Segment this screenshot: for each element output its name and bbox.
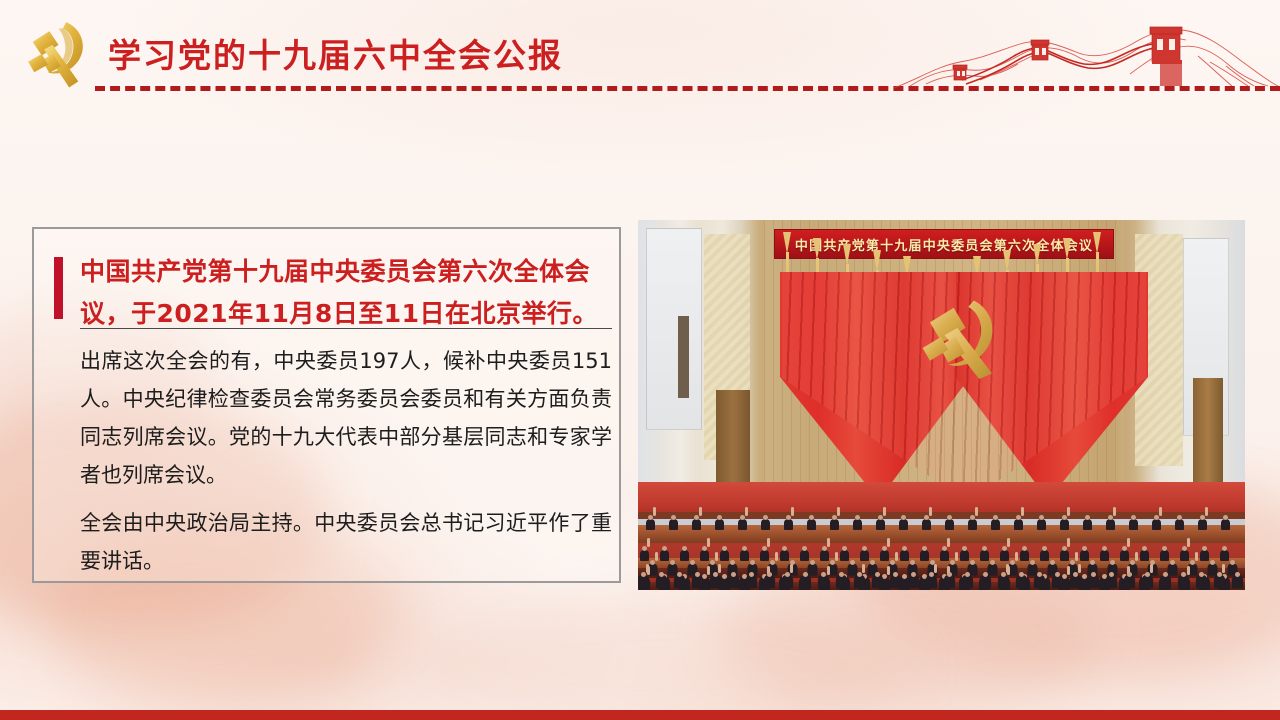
delegate-head	[659, 572, 664, 577]
delegate-head	[671, 515, 676, 520]
delegate-figure	[922, 519, 931, 530]
delegate-figure	[1083, 519, 1092, 530]
delegate-head	[1182, 546, 1187, 551]
delegate-head	[670, 560, 675, 565]
delegate-head	[1230, 560, 1235, 565]
delegate-head	[982, 546, 987, 551]
raised-hand	[835, 552, 838, 561]
delegate-head	[782, 546, 787, 551]
delegate-head	[1055, 572, 1060, 577]
delegate-head	[1102, 546, 1107, 551]
delegate-figure	[980, 550, 989, 561]
delegate-figure	[991, 519, 1000, 530]
raised-hand	[655, 552, 658, 561]
delegate-head	[1037, 572, 1042, 577]
raised-hand	[1150, 564, 1153, 573]
delegate-head	[702, 546, 707, 551]
delegate-figure	[669, 519, 678, 530]
delegate-figure	[920, 550, 929, 561]
hall-wood-column-left	[716, 390, 750, 488]
delegate-figure	[876, 519, 885, 530]
card-paragraph: 全会由中央政治局主持。中央委员会总书记习近平作了重要讲话。	[80, 504, 612, 580]
raised-hand	[1067, 507, 1070, 516]
delegate-head	[762, 546, 767, 551]
delegate-figure	[692, 519, 701, 530]
raised-hand	[767, 538, 770, 547]
delegate-head	[662, 546, 667, 551]
hall-dark-pillar	[678, 316, 689, 398]
delegate-figure	[1200, 550, 1209, 561]
delegate-head	[803, 572, 808, 577]
delegate-figure	[840, 550, 849, 561]
delegate-head	[1062, 546, 1067, 551]
raised-hand	[715, 552, 718, 561]
delegate-head	[1142, 546, 1147, 551]
delegate-head	[690, 560, 695, 565]
delegate-figure	[715, 519, 724, 530]
spear-finial-icon	[1093, 232, 1101, 254]
delegate-head	[890, 560, 895, 565]
delegate-head	[1070, 560, 1075, 565]
raised-hand	[707, 538, 710, 547]
delegate-head	[983, 572, 988, 577]
delegate-head	[1085, 515, 1090, 520]
delegate-head	[965, 572, 970, 577]
delegate-head	[1016, 515, 1021, 520]
delegate-head	[902, 574, 907, 579]
delegate-head	[1001, 572, 1006, 577]
raised-hand	[1007, 538, 1010, 547]
delegate-figure	[880, 550, 889, 561]
delegate-head	[1042, 546, 1047, 551]
delegate-figure	[1221, 519, 1230, 530]
delegate-head	[878, 515, 883, 520]
delegate-head	[1039, 515, 1044, 520]
delegate-figure	[1020, 550, 1029, 561]
delegate-head	[1030, 560, 1035, 565]
raised-hand	[646, 564, 649, 573]
raised-hand	[827, 538, 830, 547]
delegate-figure	[940, 550, 949, 561]
delegate-head	[911, 572, 916, 577]
delegate-head	[1130, 560, 1135, 565]
delegate-figure	[720, 550, 729, 561]
delegate-head	[855, 515, 860, 520]
hall-wood-column-right	[1193, 378, 1223, 488]
delegate-head	[641, 572, 646, 577]
spear-finial-icon	[873, 250, 881, 272]
party-hammer-sickle-emblem-icon	[18, 16, 96, 92]
delegate-head	[1010, 560, 1015, 565]
delegate-head	[1154, 515, 1159, 520]
delegate-figure	[1167, 563, 1177, 575]
delegate-head	[1062, 515, 1067, 520]
spear-finial-icon	[1003, 250, 1011, 272]
delegate-head	[722, 546, 727, 551]
delegate-head	[950, 560, 955, 565]
delegate-figure	[1198, 519, 1207, 530]
delegate-head	[947, 572, 952, 577]
delegate-figure	[646, 519, 655, 530]
delegate-head	[730, 560, 735, 565]
delegate-head	[1210, 560, 1215, 565]
delegate-head	[1170, 560, 1175, 565]
delegate-head	[810, 560, 815, 565]
delegate-figure	[1060, 519, 1069, 530]
delegate-figure	[760, 550, 769, 561]
delegate-head	[770, 560, 775, 565]
raised-hand	[975, 507, 978, 516]
delegate-head	[1108, 515, 1113, 520]
delegate-head	[740, 515, 745, 520]
delegate-head	[1190, 560, 1195, 565]
delegate-head	[1002, 546, 1007, 551]
great-wall-illustration-icon	[880, 0, 1280, 100]
raised-hand	[1067, 566, 1070, 575]
delegate-head	[830, 560, 835, 565]
delegate-head	[682, 546, 687, 551]
delegate-figure	[660, 550, 669, 561]
delegate-figure	[987, 563, 997, 575]
raised-hand	[1015, 552, 1018, 561]
delegate-figure	[784, 519, 793, 530]
delegate-head	[1127, 572, 1132, 577]
delegate-head	[1235, 572, 1240, 577]
delegate-head	[862, 546, 867, 551]
delegate-figure	[1120, 550, 1129, 561]
delegate-figure	[1060, 550, 1069, 561]
delegate-figure	[1037, 519, 1046, 530]
delegate-figure	[900, 550, 909, 561]
delegate-head	[722, 574, 727, 579]
delegate-figure	[700, 550, 709, 561]
delegate-head	[942, 546, 947, 551]
delegate-head	[947, 515, 952, 520]
hall-side-panel-left	[646, 228, 702, 430]
raised-hand	[1222, 564, 1225, 573]
delegate-head	[731, 572, 736, 577]
raised-hand	[1113, 507, 1116, 516]
delegate-head	[1073, 572, 1078, 577]
raised-hand	[718, 564, 721, 573]
raised-hand	[1135, 552, 1138, 561]
delegate-head	[850, 560, 855, 565]
raised-hand	[887, 538, 890, 547]
delegate-head	[910, 560, 915, 565]
raised-hand	[1075, 552, 1078, 561]
delegate-figure	[1160, 550, 1169, 561]
headline-accent-bar	[54, 257, 63, 319]
raised-hand	[1187, 566, 1190, 575]
delegate-head	[1223, 515, 1228, 520]
delegate-figure	[1129, 519, 1138, 530]
delegate-head	[822, 546, 827, 551]
delegate-head	[1217, 572, 1222, 577]
raised-hand	[1195, 552, 1198, 561]
delegate-figure	[738, 519, 747, 530]
raised-hand	[862, 564, 865, 573]
delegate-head	[717, 515, 722, 520]
delegate-head	[902, 546, 907, 551]
delegate-head	[642, 546, 647, 551]
delegate-head	[809, 515, 814, 520]
delegate-head	[713, 572, 718, 577]
delegate-head	[1022, 546, 1027, 551]
delegate-head	[1177, 515, 1182, 520]
raised-hand	[1006, 564, 1009, 573]
delegate-figure	[1040, 550, 1049, 561]
delegate-head	[1109, 572, 1114, 577]
delegate-head	[1145, 572, 1150, 577]
raised-hand	[745, 507, 748, 516]
card-paragraph: 出席这次全会的有，中央委员197人，候补中央委员151人。中央纪律检查委员会常务…	[80, 342, 612, 494]
delegate-figure	[761, 519, 770, 530]
delegate-head	[1110, 560, 1115, 565]
delegate-head	[648, 515, 653, 520]
delegate-head	[1050, 560, 1055, 565]
delegate-head	[1122, 546, 1127, 551]
background-wash	[420, 600, 920, 720]
delegate-head	[742, 546, 747, 551]
delegate-head	[1163, 572, 1168, 577]
slide-root: 学习党的十九届六中全会公报	[0, 0, 1280, 720]
delegate-figure	[680, 550, 689, 561]
card-divider	[80, 328, 612, 329]
card-headline: 中国共产党第十九届中央委员会第六次全体会议，于2021年11月8日至11日在北京…	[80, 251, 600, 335]
delegate-head	[882, 546, 887, 551]
delegate-figure	[1000, 550, 1009, 561]
raised-hand	[653, 507, 656, 516]
raised-hand	[1205, 507, 1208, 516]
delegate-figure	[1175, 519, 1184, 530]
spear-finial-icon	[1063, 238, 1071, 260]
delegate-head	[893, 572, 898, 577]
delegate-head	[1019, 572, 1024, 577]
delegate-figure	[860, 550, 869, 561]
slide-header: 学习党的十九届六中全会公报	[0, 0, 1280, 104]
footer-accent-bar	[0, 710, 1280, 720]
delegate-head	[763, 515, 768, 520]
raised-hand	[837, 507, 840, 516]
delegate-figure	[780, 550, 789, 561]
delegate-head	[1091, 572, 1096, 577]
delegate-figure	[807, 519, 816, 530]
delegate-figure	[899, 519, 908, 530]
spear-finial-icon	[1033, 244, 1041, 266]
delegate-head	[1181, 572, 1186, 577]
delegate-head	[1162, 546, 1167, 551]
raised-hand	[1187, 538, 1190, 547]
delegate-head	[875, 572, 880, 577]
delegate-head	[1222, 546, 1227, 551]
delegate-figure	[1140, 550, 1149, 561]
raised-hand	[883, 507, 886, 516]
delegate-figure	[830, 519, 839, 530]
meeting-banner-text: 中国共产党第十九届中央委员会第六次全体会议	[795, 235, 1093, 254]
delegate-figure	[1220, 550, 1229, 561]
delegate-figure	[968, 519, 977, 530]
delegate-figure	[640, 550, 649, 561]
raised-hand	[895, 552, 898, 561]
delegate-head	[695, 572, 700, 577]
delegate-figure	[945, 519, 954, 530]
delegate-head	[749, 572, 754, 577]
delegate-head	[650, 560, 655, 565]
delegate-head	[922, 546, 927, 551]
raised-hand	[647, 538, 650, 547]
raised-hand	[699, 507, 702, 516]
delegate-head	[962, 546, 967, 551]
great-hall-plenary-session-photo: 中国共产党第十九届中央委员会第六次全体会议	[638, 220, 1245, 590]
delegate-head	[1199, 572, 1204, 577]
delegate-head	[842, 546, 847, 551]
raised-hand	[1159, 507, 1162, 516]
delegate-head	[901, 515, 906, 520]
delegate-figure	[800, 550, 809, 561]
delegate-head	[1082, 546, 1087, 551]
delegate-head	[832, 515, 837, 520]
delegate-head	[1200, 515, 1205, 520]
spear-finial-icon	[783, 232, 791, 254]
delegate-figure	[807, 563, 817, 575]
raised-hand	[790, 564, 793, 573]
delegate-head	[857, 572, 862, 577]
raised-hand	[775, 552, 778, 561]
gold-hammer-sickle-icon	[915, 295, 1007, 379]
delegate-head	[767, 572, 772, 577]
delegate-head	[970, 560, 975, 565]
delegate-figure	[1152, 519, 1161, 530]
delegate-head	[970, 515, 975, 520]
delegate-figure	[1014, 519, 1023, 530]
raised-hand	[947, 538, 950, 547]
delegate-figure	[740, 550, 749, 561]
raised-hand	[791, 507, 794, 516]
delegate-head	[924, 515, 929, 520]
delegate-head	[786, 515, 791, 520]
delegate-head	[993, 515, 998, 520]
delegate-head	[694, 515, 699, 520]
delegate-figure	[820, 550, 829, 561]
delegate-figure	[1080, 550, 1089, 561]
delegate-head	[839, 572, 844, 577]
spear-finial-icon	[843, 244, 851, 266]
spear-finial-icon	[813, 238, 821, 260]
delegate-head	[929, 572, 934, 577]
raised-hand	[707, 566, 710, 575]
raised-hand	[955, 552, 958, 561]
delegate-figure	[1180, 550, 1189, 561]
delegate-figure	[1106, 519, 1115, 530]
delegate-head	[750, 560, 755, 565]
content-card: 中国共产党第十九届中央委员会第六次全体会议，于2021年11月8日至11日在北京…	[32, 227, 621, 583]
delegate-head	[677, 572, 682, 577]
delegate-head	[710, 560, 715, 565]
raised-hand	[1127, 538, 1130, 547]
delegate-head	[1090, 560, 1095, 565]
delegate-head	[870, 560, 875, 565]
delegate-head	[821, 572, 826, 577]
raised-hand	[934, 564, 937, 573]
delegate-figure	[853, 519, 862, 530]
raised-hand	[929, 507, 932, 516]
delegate-head	[1202, 546, 1207, 551]
delegate-head	[990, 560, 995, 565]
raised-hand	[887, 566, 890, 575]
delegate-figure	[960, 550, 969, 561]
raised-hand	[1067, 538, 1070, 547]
delegate-figure	[1100, 550, 1109, 561]
page-title: 学习党的十九届六中全会公报	[108, 36, 563, 76]
delegate-head	[785, 572, 790, 577]
delegate-head	[1131, 515, 1136, 520]
raised-hand	[1078, 564, 1081, 573]
delegate-head	[1082, 574, 1087, 579]
delegate-head	[802, 546, 807, 551]
raised-hand	[827, 566, 830, 575]
raised-hand	[1021, 507, 1024, 516]
